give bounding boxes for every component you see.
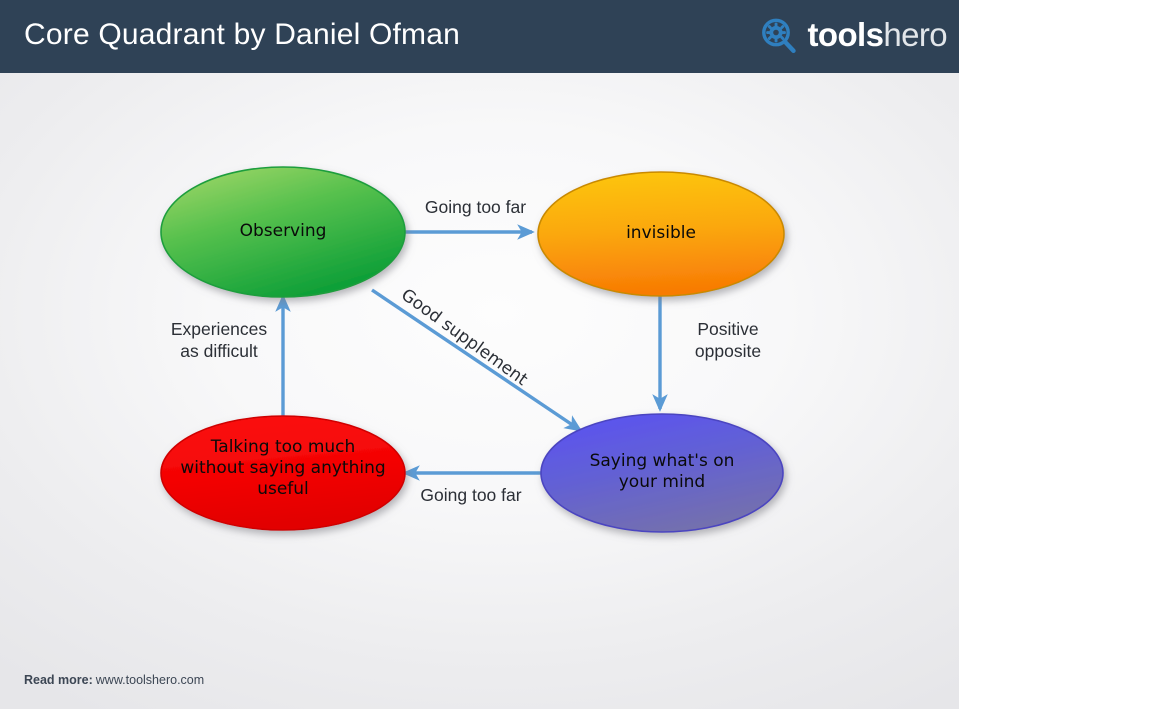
toolshero-logo[interactable]: toolshero — [759, 12, 947, 60]
edge-label-pitfall-to-challenge: Positive opposite — [673, 318, 783, 362]
toolshero-url[interactable]: www.toolshero.com — [96, 673, 204, 687]
edge-label-core-to-pitfall: Going too far — [403, 196, 548, 218]
node-pitfall — [538, 172, 784, 296]
node-allergy — [161, 416, 405, 530]
edge-label-challenge-to-allergy: Going too far — [396, 484, 546, 506]
diagram-canvas — [0, 73, 959, 709]
core-quadrant-diagram: Observing invisible Talking too much wit… — [0, 73, 959, 709]
logo-tools-text: tools — [808, 16, 884, 53]
read-more-label: Read more: — [24, 673, 93, 687]
slide-canvas: Core Quadrant by Daniel Ofman — [0, 0, 959, 709]
page-title: Core Quadrant by Daniel Ofman — [24, 18, 460, 52]
edge-label-allergy-to-core: Experiences as difficult — [145, 318, 293, 362]
logo-wordmark: toolshero — [808, 18, 947, 54]
magnifier-gear-icon — [759, 16, 799, 56]
node-challenge — [541, 414, 783, 532]
logo-hero-text: hero — [883, 16, 947, 53]
node-core-quality — [161, 167, 405, 297]
footer-read-more: Read more:www.toolshero.com — [24, 673, 204, 687]
slide-page: Core Quadrant by Daniel Ofman — [0, 0, 1152, 720]
slide-header: Core Quadrant by Daniel Ofman — [0, 0, 959, 73]
